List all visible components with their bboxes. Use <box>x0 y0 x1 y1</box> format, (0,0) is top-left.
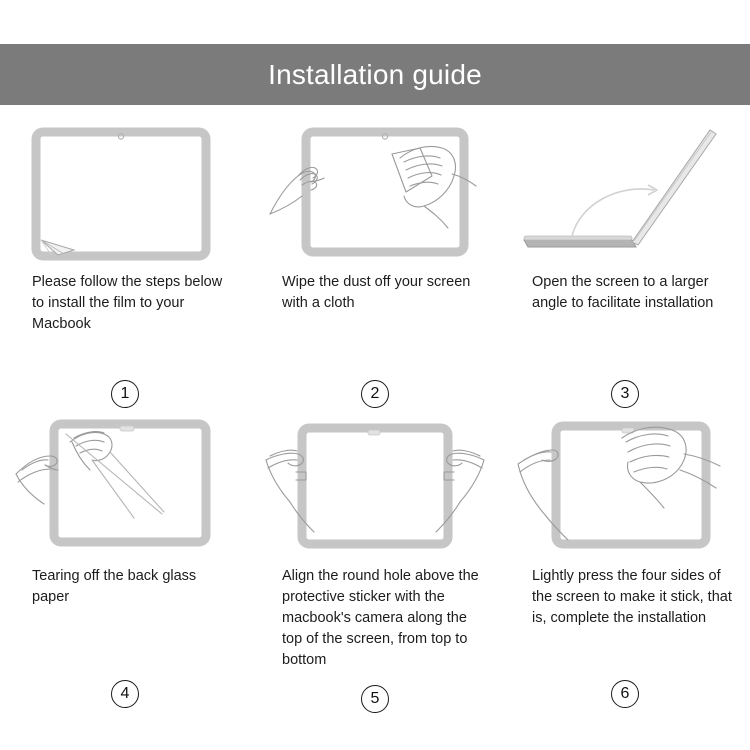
header-band: Installation guide <box>0 44 750 105</box>
step-card-4: Tearing off the back glass paper 4 <box>0 408 250 708</box>
steps-row-2: Tearing off the back glass paper 4 <box>0 408 750 708</box>
step-card-1: Please follow the steps below to install… <box>0 118 250 408</box>
steps-row-1: Please follow the steps below to install… <box>0 118 750 408</box>
illustration-step-1 <box>14 118 236 256</box>
step-number-3: 3 <box>611 380 639 408</box>
step-number-2: 2 <box>361 380 389 408</box>
step-number-wrap-1: 1 <box>0 366 250 408</box>
step-number-wrap-2: 2 <box>250 366 500 408</box>
illustration-step-2 <box>264 118 486 256</box>
step-caption-5: Align the round hole above the protectiv… <box>282 566 490 671</box>
step-caption-2: Wipe the dust off your screen with a clo… <box>282 272 478 314</box>
step-number-5: 5 <box>361 685 389 713</box>
step-caption-1: Please follow the steps below to install… <box>32 272 228 335</box>
step-card-5: Align the round hole above the protectiv… <box>250 408 500 708</box>
steps-grid: Please follow the steps below to install… <box>0 118 750 708</box>
illustration-step-3 <box>514 118 736 256</box>
illustration-step-5 <box>264 412 486 550</box>
step-caption-3: Open the screen to a larger angle to fac… <box>532 272 728 314</box>
step-number-wrap-3: 3 <box>500 366 750 408</box>
step-card-6: Lightly press the four sides of the scre… <box>500 408 750 708</box>
step-caption-6: Lightly press the four sides of the scre… <box>532 566 740 629</box>
page-title: Installation guide <box>268 61 482 89</box>
step-card-3: Open the screen to a larger angle to fac… <box>500 118 750 408</box>
step-caption-4: Tearing off the back glass paper <box>32 566 228 608</box>
step-number-6: 6 <box>611 680 639 708</box>
step-number-wrap-6: 6 <box>500 666 750 708</box>
step-number-4: 4 <box>111 680 139 708</box>
step-number-wrap-4: 4 <box>0 666 250 708</box>
illustration-step-4 <box>14 412 236 550</box>
step-card-2: Wipe the dust off your screen with a clo… <box>250 118 500 408</box>
step-number-wrap-5: 5 <box>250 671 500 713</box>
illustration-step-6 <box>514 412 736 550</box>
installation-guide-page: Installation guide <box>0 0 750 750</box>
step-number-1: 1 <box>111 380 139 408</box>
